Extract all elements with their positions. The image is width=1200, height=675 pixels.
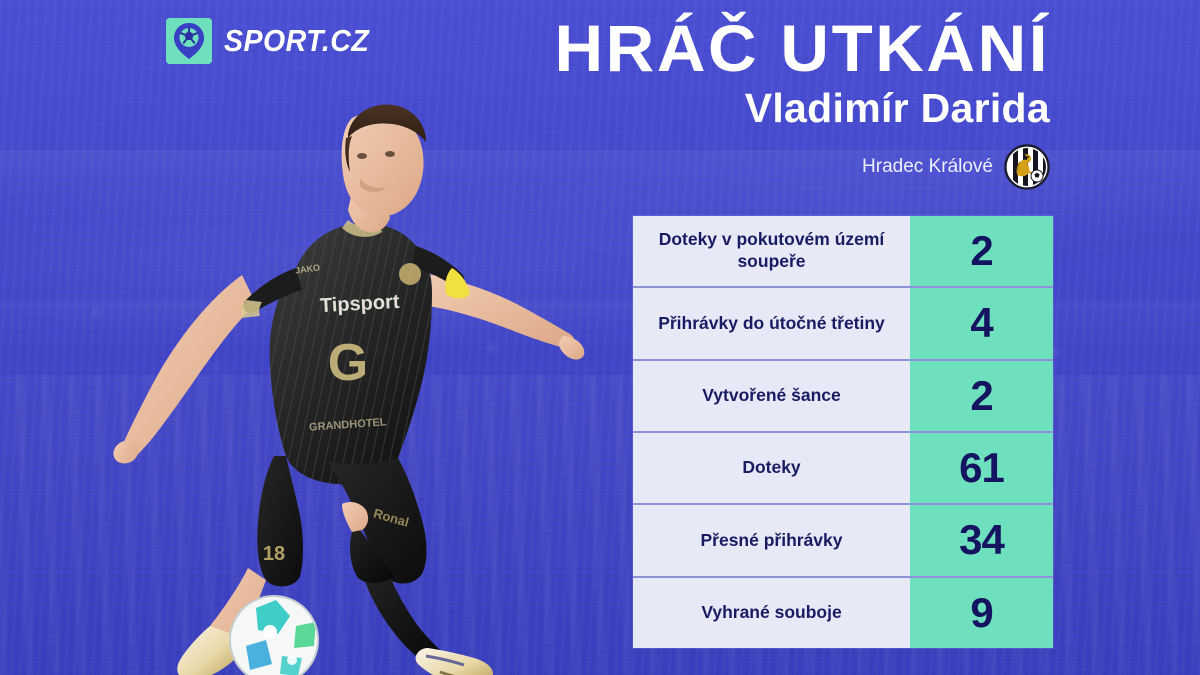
svg-text:G: G (328, 334, 368, 392)
stats-table: Doteky v pokutovém území soupeře2Přihráv… (633, 216, 1053, 648)
headline-block: HRÁČ UTKÁNÍ Vladimír Darida Hradec Králo… (290, 14, 1050, 190)
stat-label: Doteky (633, 433, 910, 503)
team-name: Hradec Králové (862, 156, 993, 178)
stat-value: 2 (910, 216, 1053, 286)
table-row: Přesné přihrávky34 (633, 505, 1053, 577)
stat-label: Doteky v pokutovém území soupeře (633, 216, 910, 286)
stat-label: Přesné přihrávky (633, 505, 910, 575)
stat-label: Vyhrané souboje (633, 578, 910, 648)
player-name: Vladimír Darida (290, 85, 1050, 132)
stat-label: Přihrávky do útočné třetiny (633, 288, 910, 358)
stat-value: 61 (910, 433, 1053, 503)
svg-text:18: 18 (263, 543, 285, 565)
stat-label: Vytvořené šance (633, 361, 910, 431)
table-row: Přihrávky do útočné třetiny4 (633, 288, 1053, 360)
team-row: Hradec Králové (290, 144, 1050, 190)
hradec-kralove-crest-icon (1004, 144, 1050, 190)
stat-value: 2 (910, 361, 1053, 431)
sport-pin-ball-icon (166, 18, 212, 64)
table-row: Vytvořené šance2 (633, 361, 1053, 433)
table-row: Doteky61 (633, 433, 1053, 505)
stat-value: 4 (910, 288, 1053, 358)
stat-value: 34 (910, 505, 1053, 575)
stat-value: 9 (910, 578, 1053, 648)
table-row: Vyhrané souboje9 (633, 578, 1053, 648)
svg-text:Tipsport: Tipsport (319, 291, 400, 317)
table-row: Doteky v pokutovém území soupeře2 (633, 216, 1053, 288)
infographic-stage: Tipsport G JAKO GRANDHOTEL 18 Ronal (0, 0, 1200, 675)
page-title: HRÁČ UTKÁNÍ (275, 14, 1050, 83)
